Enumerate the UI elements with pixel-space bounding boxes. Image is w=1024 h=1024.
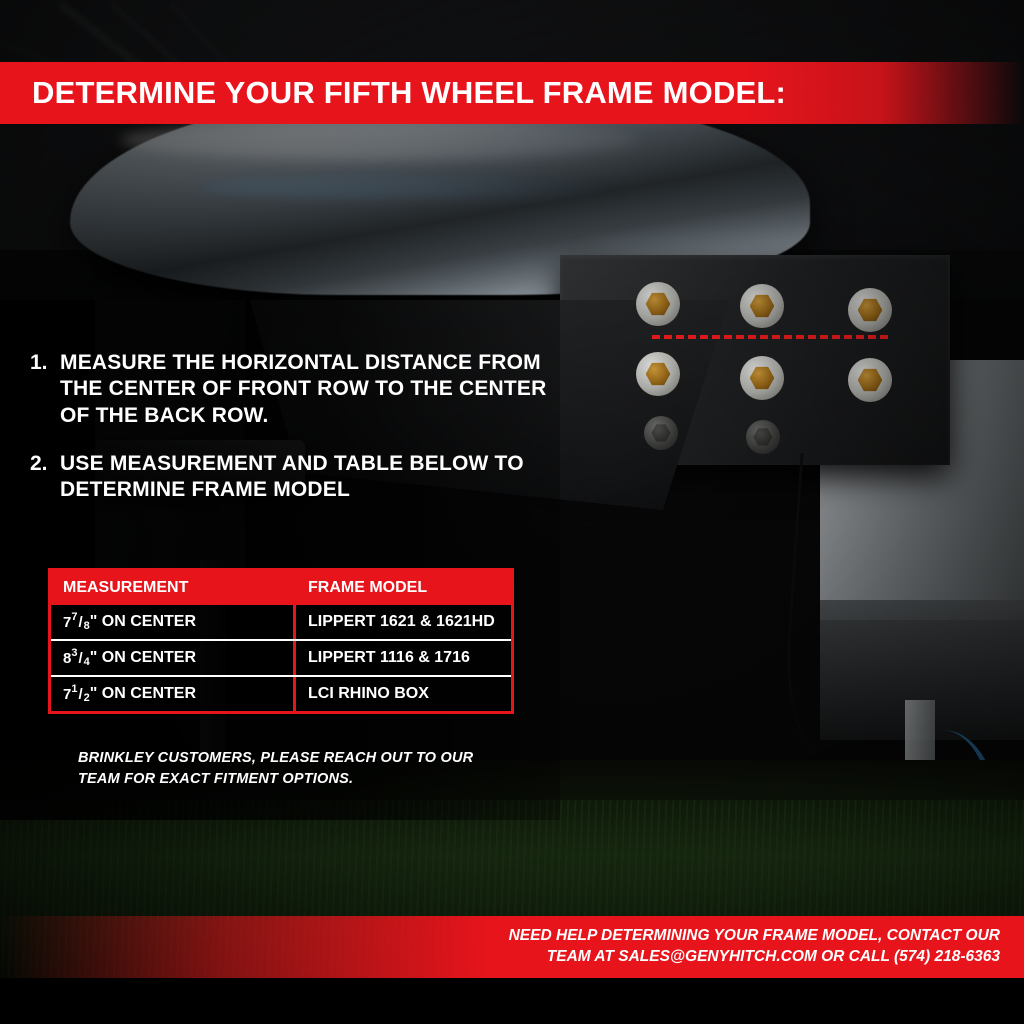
column-header-frame-model: FRAME MODEL (296, 571, 511, 605)
measurement-suffix: " ON CENTER (90, 685, 196, 703)
cell-measurement: 71/2 " ON CENTER (51, 677, 296, 711)
frame-model-table: MEASUREMENT FRAME MODEL 77/8 " ON CENTER… (48, 568, 514, 714)
measurement-numerator: 3 (71, 647, 77, 659)
footer-black-bar (0, 978, 1024, 1024)
page-title: DETERMINE YOUR FIFTH WHEEL FRAME MODEL: (0, 75, 786, 111)
instruction-list: 1. MEASURE THE HORIZONTAL DISTANCE FROM … (30, 350, 570, 525)
step-number: 1. (30, 350, 60, 429)
step-text: USE MEASUREMENT AND TABLE BELOW TO DETER… (60, 451, 570, 504)
cell-frame-model: LCI RHINO BOX (296, 677, 511, 711)
footer-line-2: TEAM AT SALES@GENYHITCH.COM OR CALL (574… (509, 947, 1000, 968)
measurement-suffix: " ON CENTER (90, 613, 196, 631)
table-header-row: MEASUREMENT FRAME MODEL (51, 571, 511, 605)
step-text: MEASURE THE HORIZONTAL DISTANCE FROM THE… (60, 350, 570, 429)
table-row: 83/4 " ON CENTER LIPPERT 1116 & 1716 (51, 639, 511, 675)
list-item: 1. MEASURE THE HORIZONTAL DISTANCE FROM … (30, 350, 570, 429)
measurement-whole: 7 (63, 686, 71, 703)
list-item: 2. USE MEASUREMENT AND TABLE BELOW TO DE… (30, 451, 570, 504)
measurement-whole: 7 (63, 614, 71, 631)
measurement-denominator: 2 (84, 692, 90, 704)
brinkley-note: BRINKLEY CUSTOMERS, PLEASE REACH OUT TO … (78, 748, 498, 790)
footer-line-1: NEED HELP DETERMINING YOUR FRAME MODEL, … (509, 926, 1000, 947)
footer-contact-text: NEED HELP DETERMINING YOUR FRAME MODEL, … (509, 926, 1024, 968)
measurement-numerator: 7 (71, 611, 77, 623)
step-number: 2. (30, 451, 60, 504)
measurement-denominator: 8 (84, 620, 90, 632)
table-row: 77/8 " ON CENTER LIPPERT 1621 & 1621HD (51, 605, 511, 639)
measurement-suffix: " ON CENTER (90, 649, 196, 667)
cell-measurement: 83/4 " ON CENTER (51, 641, 296, 675)
table-row: 71/2 " ON CENTER LCI RHINO BOX (51, 675, 511, 711)
header-banner: DETERMINE YOUR FIFTH WHEEL FRAME MODEL: (0, 62, 1024, 124)
measurement-denominator: 4 (84, 656, 90, 668)
table-body: 77/8 " ON CENTER LIPPERT 1621 & 1621HD 8… (51, 605, 511, 711)
cell-frame-model: LIPPERT 1116 & 1716 (296, 641, 511, 675)
footer-banner: NEED HELP DETERMINING YOUR FRAME MODEL, … (0, 916, 1024, 978)
measurement-numerator: 1 (71, 683, 77, 695)
cell-frame-model: LIPPERT 1621 & 1621HD (296, 605, 511, 639)
column-header-measurement: MEASUREMENT (51, 571, 296, 605)
cell-measurement: 77/8 " ON CENTER (51, 605, 296, 639)
measurement-whole: 8 (63, 650, 71, 667)
